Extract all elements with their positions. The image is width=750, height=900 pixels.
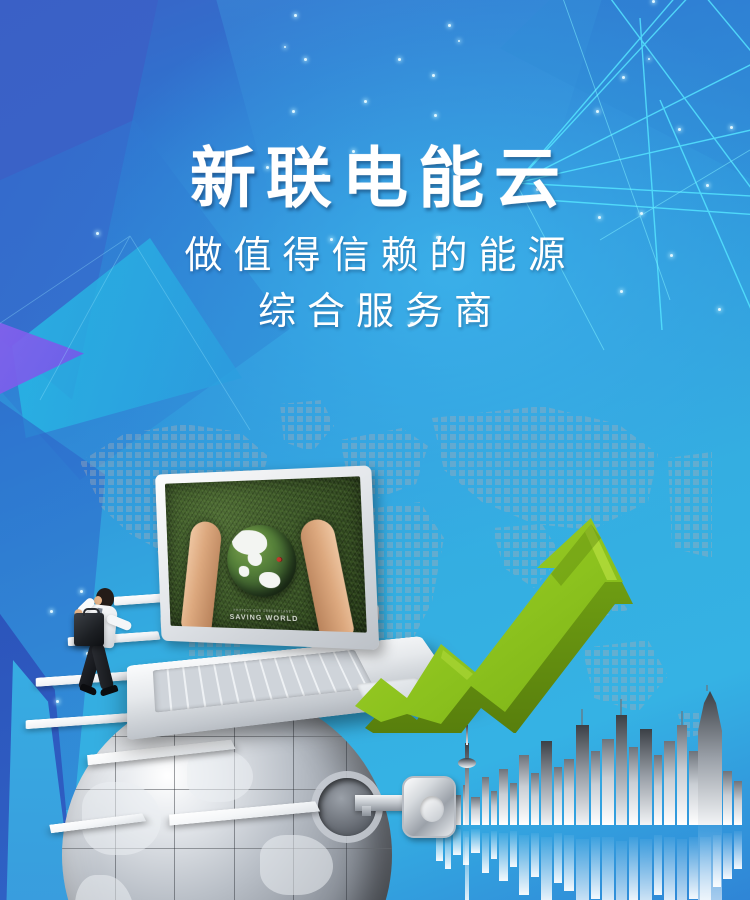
ladybug xyxy=(276,557,282,562)
green-growth-arrow xyxy=(355,518,685,733)
silver-key-head xyxy=(402,776,456,838)
briefcase xyxy=(74,613,104,646)
subtitle-line-1: 做值得信赖的能源 xyxy=(0,230,750,282)
laptop-lid: PROTECT OUR GREEN PLANET SAVING WORLD xyxy=(155,465,379,650)
promo-poster: 新联电能云 做值得信赖的能源 综合服务商 xyxy=(0,0,750,900)
subtitle-line-2: 综合服务商 xyxy=(0,286,750,338)
laptop-keyboard xyxy=(153,650,375,713)
page-title: 新联电能云 xyxy=(0,140,750,216)
headline-block: 新联电能云 做值得信赖的能源 综合服务商 xyxy=(0,140,750,338)
laptop-screen: PROTECT OUR GREEN PLANET SAVING WORLD xyxy=(165,476,367,632)
key-bit xyxy=(362,806,371,816)
